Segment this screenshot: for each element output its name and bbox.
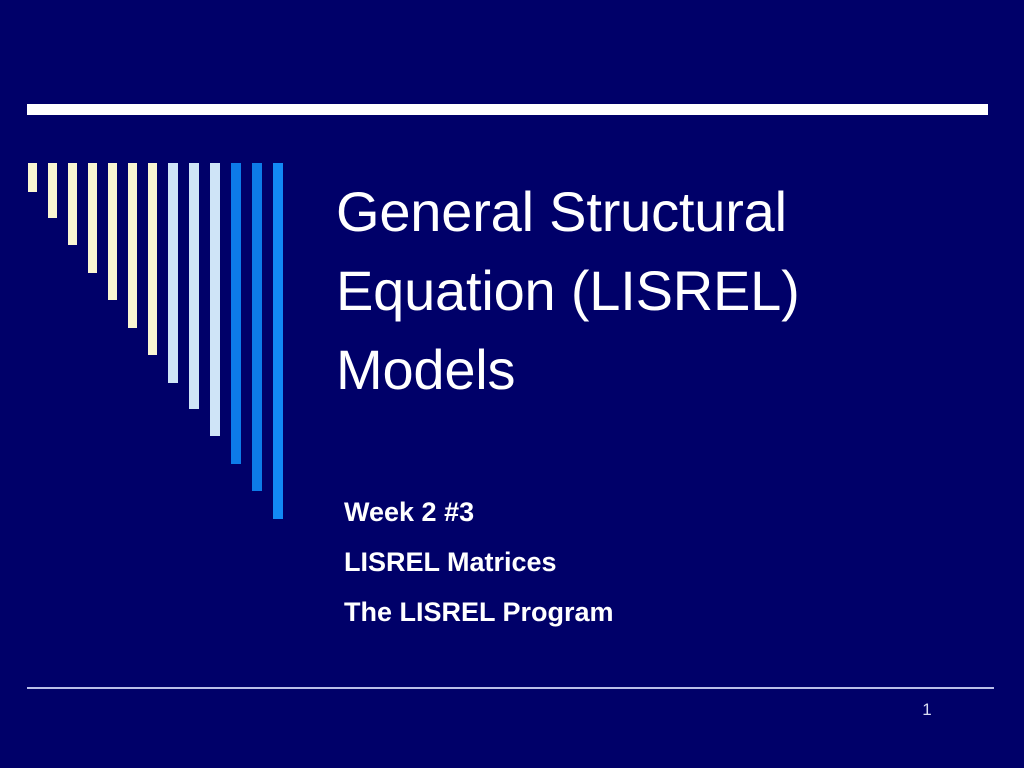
decorative-bar [68, 163, 77, 245]
slide-subtitle: Week 2 #3 LISREL Matrices The LISREL Pro… [344, 487, 964, 637]
decorative-bar [189, 163, 199, 409]
decorative-bar [108, 163, 117, 300]
decorative-bar [48, 163, 57, 218]
subtitle-line-3: The LISREL Program [344, 587, 964, 637]
decorative-bar [231, 163, 241, 464]
title-line-1: General Structural [336, 172, 976, 251]
presentation-slide: General Structural Equation (LISREL) Mod… [0, 0, 1024, 768]
footer-divider-rule [27, 687, 994, 689]
decorative-bar [128, 163, 137, 328]
title-line-3: Models [336, 330, 976, 409]
decorative-bar [210, 163, 220, 436]
slide-title: General Structural Equation (LISREL) Mod… [336, 172, 976, 409]
slide-page-number: 1 [905, 700, 949, 720]
decorative-bar [88, 163, 97, 273]
decorative-bar [252, 163, 262, 491]
subtitle-line-2: LISREL Matrices [344, 537, 964, 587]
title-line-2: Equation (LISREL) [336, 251, 976, 330]
decorative-bar [28, 163, 37, 192]
decorative-bar [273, 163, 283, 519]
descending-bars-graphic [0, 0, 310, 470]
subtitle-line-1: Week 2 #3 [344, 487, 964, 537]
decorative-bar [148, 163, 157, 355]
decorative-bar [168, 163, 178, 383]
